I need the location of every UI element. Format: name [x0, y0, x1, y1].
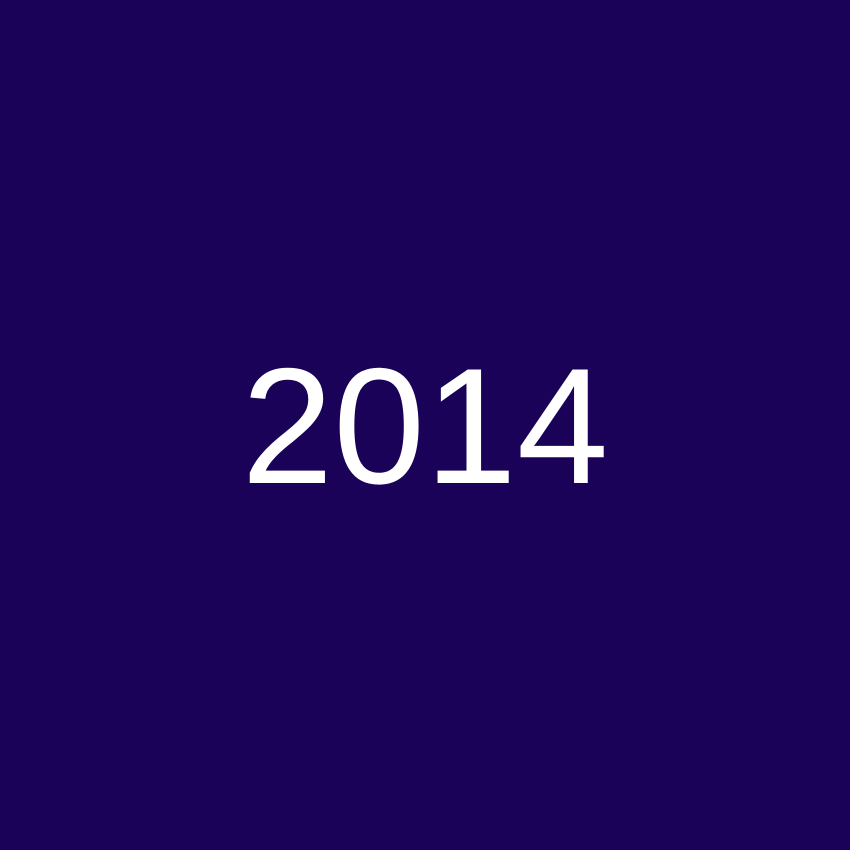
year-card: 2014 [0, 0, 850, 850]
year-label: 2014 [241, 344, 608, 509]
